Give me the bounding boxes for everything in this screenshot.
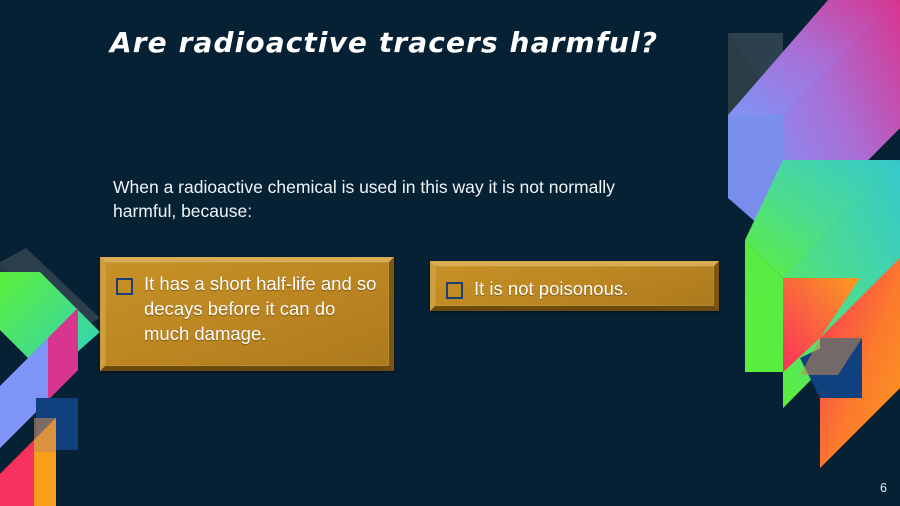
page-number: 6 <box>880 481 887 495</box>
square-bullet-icon <box>116 278 133 295</box>
answer-box-1-text: It has a short half-life and so decays b… <box>144 271 379 346</box>
answer-box-2-text: It is not poisonous. <box>474 276 628 301</box>
geometric-decoration <box>0 0 900 506</box>
slide-body-text: When a radioactive chemical is used in t… <box>113 175 673 223</box>
square-bullet-icon <box>446 282 463 299</box>
answer-box-2[interactable]: It is not poisonous. <box>430 261 719 311</box>
slide-title: Are radioactive tracers harmful? <box>110 26 730 60</box>
slide-canvas: Are radioactive tracers harmful? When a … <box>0 0 900 506</box>
answer-box-1[interactable]: It has a short half-life and so decays b… <box>100 257 394 371</box>
